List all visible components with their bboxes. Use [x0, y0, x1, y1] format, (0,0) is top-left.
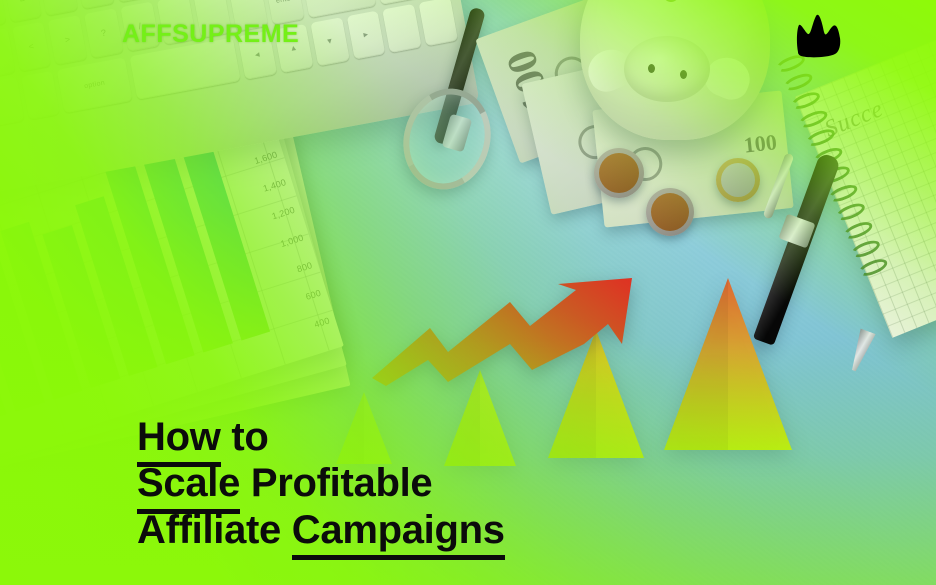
headline-line-2-rest: Profitable [240, 461, 432, 505]
key-m: M [75, 0, 114, 10]
key-n: N [39, 0, 78, 16]
y-tick-label: 1,400 [262, 177, 287, 194]
y-tick-label: 800 [296, 260, 314, 274]
headline-underlined-scale: Scale [137, 460, 240, 506]
y-tick-label: 1,200 [271, 205, 296, 222]
headline-underlined-how: How [137, 414, 221, 460]
piggy-bank-nostril [680, 70, 687, 79]
paper-cone [664, 278, 792, 450]
key-less-than: < [12, 22, 51, 71]
headline-underlined-campaigns: Campaigns [292, 507, 505, 553]
piggy-bank-ear [700, 51, 756, 105]
key-v: V [0, 0, 6, 30]
key-option: option [57, 57, 132, 113]
y-tick-label: 600 [304, 288, 322, 302]
key [419, 0, 458, 46]
crown-icon [795, 12, 843, 58]
key-b: B [3, 0, 42, 23]
upward-zigzag-arrow [370, 276, 640, 386]
coin [716, 158, 760, 202]
key [0, 77, 24, 126]
key-period: . [0, 29, 15, 78]
brand-logo: AFFSUPREME [122, 20, 299, 49]
piggy-bank-slot [662, 0, 681, 3]
key-arrow-right: ▸ [346, 10, 385, 59]
headline-line-3-plain: Affiliate [137, 508, 292, 552]
key [383, 3, 422, 52]
key [21, 70, 60, 119]
banner-canvas: 2,000 1,800 1,600 1,400 1,200 1,000 800 … [0, 0, 936, 585]
y-tick-label: 1,000 [279, 232, 304, 249]
piggy-bank-snout [624, 36, 710, 102]
headline-line-1-rest: to [221, 415, 269, 459]
key-greater-than: > [48, 15, 87, 64]
y-tick-label: 1,600 [253, 149, 278, 166]
coin [646, 188, 694, 236]
key-arrow-down: ▾ [310, 17, 349, 66]
key-question: ? [84, 9, 123, 58]
piggy-bank-nostril [648, 64, 655, 73]
coin [594, 148, 644, 198]
page-title: How to Scale Profitable Affiliate Campai… [137, 414, 657, 553]
headline-line-1: How to [137, 414, 657, 460]
headline-line-2: Scale Profitable [137, 460, 657, 506]
